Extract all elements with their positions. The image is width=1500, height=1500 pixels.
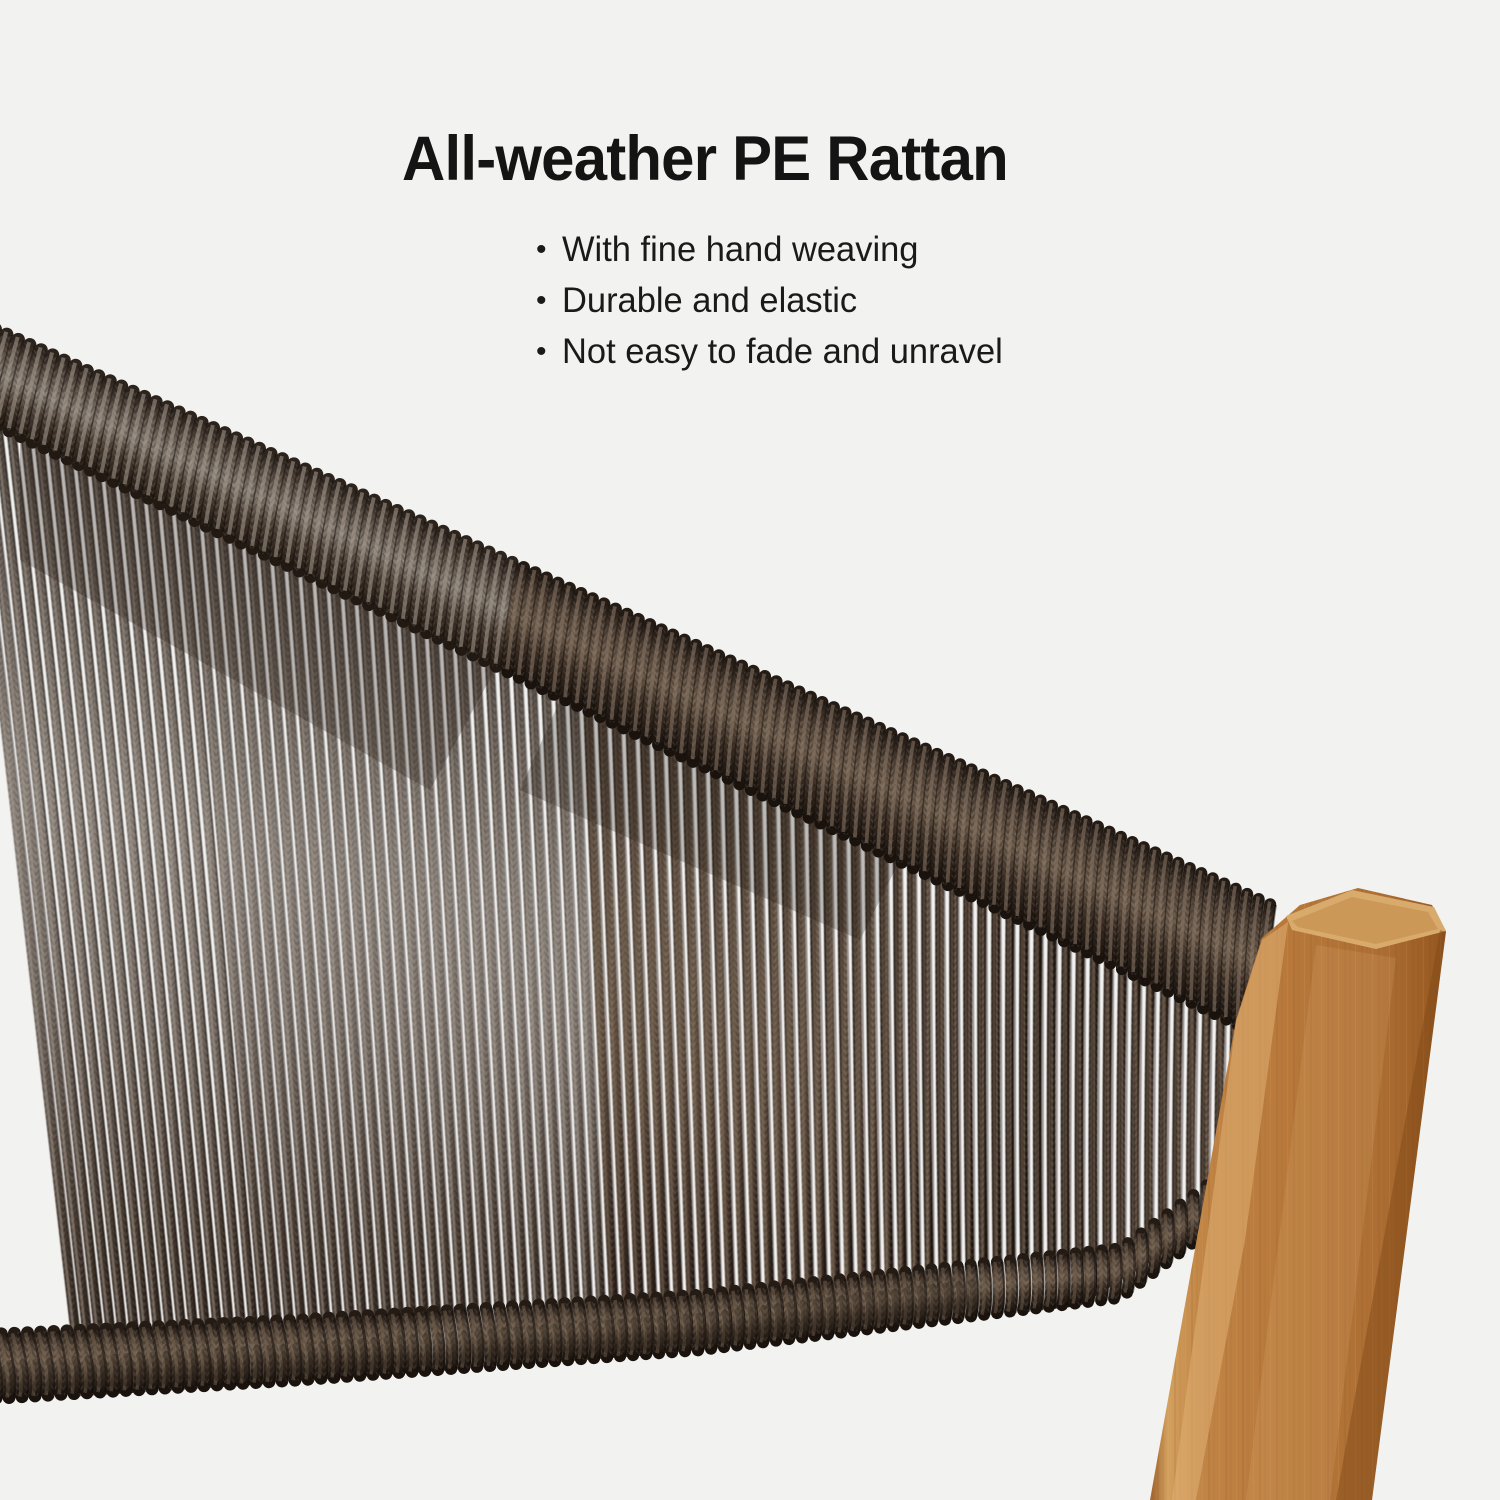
- page-title: All-weather PE Rattan: [402, 128, 1008, 191]
- list-item: • Durable and elastic: [536, 279, 1010, 330]
- bullet-text: Durable and elastic: [562, 279, 857, 323]
- product-feature-image: All-weather PE Rattan • With fine hand w…: [0, 0, 1500, 1500]
- list-item: • Not easy to fade and unravel: [536, 330, 1010, 381]
- bullet-text: Not easy to fade and unravel: [562, 330, 1003, 374]
- list-item: • With fine hand weaving: [536, 228, 1010, 279]
- bullet-marker-icon: •: [536, 330, 562, 374]
- bullet-marker-icon: •: [536, 228, 562, 272]
- bullet-marker-icon: •: [536, 279, 562, 323]
- feature-bullet-list: • With fine hand weaving • Durable and e…: [536, 228, 1010, 381]
- product-photo-woven-rattan-chair: [0, 0, 1500, 1500]
- bullet-text: With fine hand weaving: [562, 228, 918, 272]
